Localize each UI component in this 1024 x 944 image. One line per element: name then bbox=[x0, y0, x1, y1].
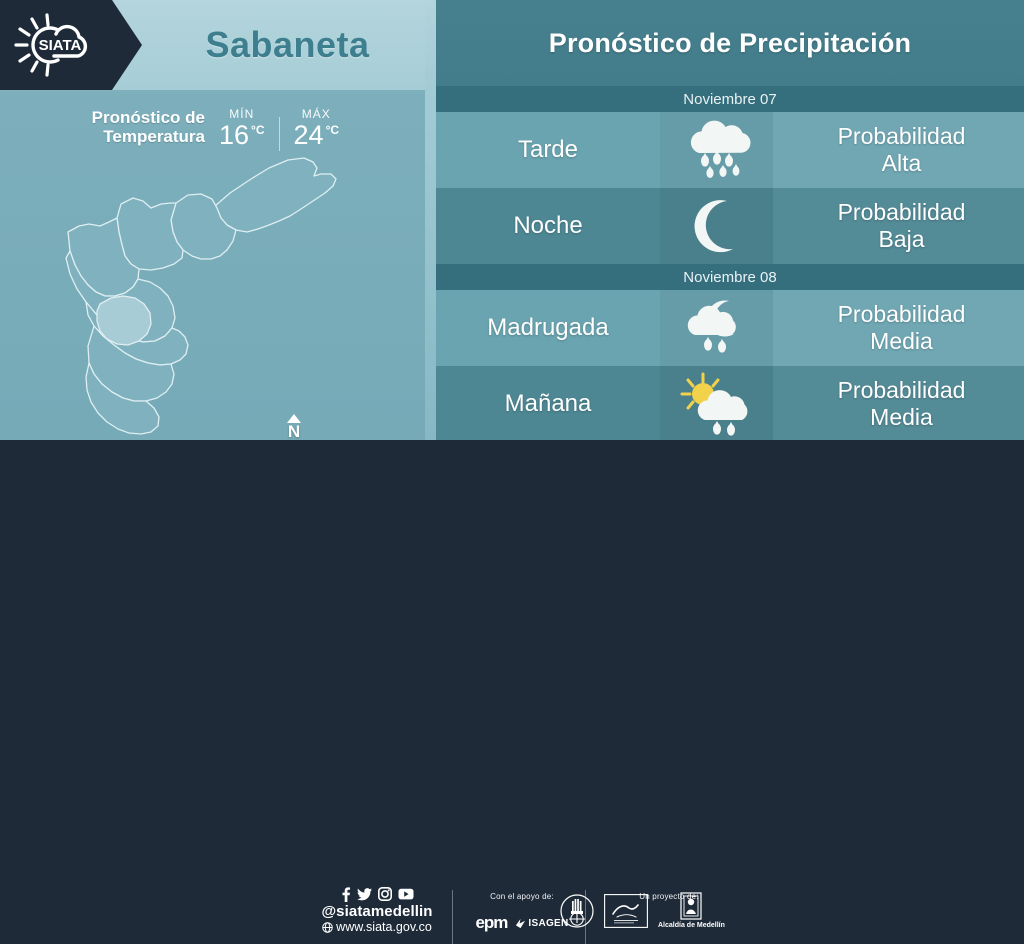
isagen-mark-icon bbox=[515, 918, 526, 929]
forecast-row[interactable]: Tarde Probabilidad bbox=[436, 112, 1024, 188]
universidad-nacional-logo bbox=[560, 894, 594, 928]
rain-cloud-heavy-icon bbox=[660, 112, 773, 188]
forecast-period: Tarde bbox=[436, 112, 660, 188]
date-band-2: Noviembre 08 bbox=[436, 264, 1024, 290]
aburra-valley-map: N bbox=[55, 146, 395, 436]
north-label: N bbox=[281, 423, 307, 440]
probability-line1: Probabilidad bbox=[838, 301, 966, 327]
epm-logo: epm bbox=[475, 913, 507, 933]
probability-line2: Alta bbox=[882, 150, 922, 176]
globe-icon bbox=[322, 922, 333, 933]
forecast-probability: Probabilidad Baja bbox=[773, 188, 1024, 264]
website-url-row[interactable]: www.siata.gov.co bbox=[312, 920, 442, 934]
svg-text:SIATA: SIATA bbox=[39, 37, 82, 54]
forecast-probability: Probabilidad Media bbox=[773, 290, 1024, 366]
area-metropolitana-logo bbox=[604, 894, 648, 928]
footer: @siatamedellin www.siata.gov.co Con el a… bbox=[0, 440, 1024, 512]
website-url: www.siata.gov.co bbox=[336, 920, 432, 934]
temperature-min-value: 16 bbox=[219, 122, 249, 148]
forecast-row[interactable]: Mañana bbox=[436, 366, 1024, 442]
footer-divider-1 bbox=[452, 890, 453, 944]
temperature-max-unit: °C bbox=[326, 123, 339, 137]
probability-line1: Probabilidad bbox=[838, 199, 966, 225]
weather-forecast-infographic: Sabaneta SIATA Pronóstico de bbox=[0, 0, 1024, 512]
twitter-icon[interactable] bbox=[357, 888, 372, 901]
forecast-period: Mañana bbox=[436, 366, 660, 442]
sun-cloud-rain-icon bbox=[660, 366, 773, 442]
forecast-period: Noche bbox=[436, 188, 660, 264]
instagram-icon[interactable] bbox=[378, 887, 392, 901]
temperature-max-value: 24 bbox=[294, 122, 324, 148]
probability-line1: Probabilidad bbox=[838, 123, 966, 149]
precipitation-panel: Pronóstico de Precipitación Noviembre 07… bbox=[436, 0, 1024, 440]
probability-line2: Media bbox=[870, 328, 933, 354]
temperature-max-caption: MÁX bbox=[302, 107, 331, 121]
forecast-period: Madrugada bbox=[436, 290, 660, 366]
sun-cloud-icon: SIATA bbox=[10, 10, 110, 80]
temperature-min: MÍN 16 °C bbox=[219, 107, 265, 148]
panel-divider bbox=[425, 0, 436, 440]
temperature-label: Pronóstico de Temperatura bbox=[55, 108, 205, 146]
probability-line2: Baja bbox=[878, 226, 924, 252]
siata-logo-block[interactable]: SIATA bbox=[0, 0, 142, 90]
alcaldia-medellin-logo: Alcaldía de Medellín bbox=[658, 892, 725, 929]
alcaldia-mark-icon bbox=[680, 892, 702, 920]
forecast-row[interactable]: Madrugada Probabilidad Media bbox=[436, 290, 1024, 366]
temperature-label-line2: Temperatura bbox=[55, 127, 205, 146]
social-icons bbox=[312, 886, 442, 902]
forecast-probability: Probabilidad Media bbox=[773, 366, 1024, 442]
precipitation-title: Pronóstico de Precipitación bbox=[549, 28, 911, 59]
map-highlight-sabaneta bbox=[97, 296, 151, 345]
temperature-max: MÁX 24 °C bbox=[294, 107, 340, 148]
map-svg bbox=[55, 146, 395, 436]
probability-line2: Media bbox=[870, 404, 933, 430]
forecast-row[interactable]: Noche Probabilidad Baja bbox=[436, 188, 1024, 264]
social-block: @siatamedellin www.siata.gov.co bbox=[312, 886, 442, 934]
temperature-min-unit: °C bbox=[251, 123, 264, 137]
date-band-1: Noviembre 07 bbox=[436, 86, 1024, 112]
temperature-label-line1: Pronóstico de bbox=[55, 108, 205, 127]
probability-line1: Probabilidad bbox=[838, 377, 966, 403]
project-logos: Alcaldía de Medellín bbox=[560, 892, 760, 929]
precipitation-header: Pronóstico de Precipitación bbox=[436, 0, 1024, 86]
youtube-icon[interactable] bbox=[398, 888, 414, 900]
social-handle[interactable]: @siatamedellin bbox=[312, 903, 442, 920]
left-panel: Sabaneta SIATA Pronóstico de bbox=[0, 0, 435, 440]
moon-cloud-rain-icon bbox=[660, 290, 773, 366]
moon-icon bbox=[660, 188, 773, 264]
facebook-icon[interactable] bbox=[340, 887, 351, 902]
temperature-min-caption: MÍN bbox=[229, 107, 254, 121]
forecast-probability: Probabilidad Alta bbox=[773, 112, 1024, 188]
page-title: Sabaneta bbox=[140, 0, 435, 90]
